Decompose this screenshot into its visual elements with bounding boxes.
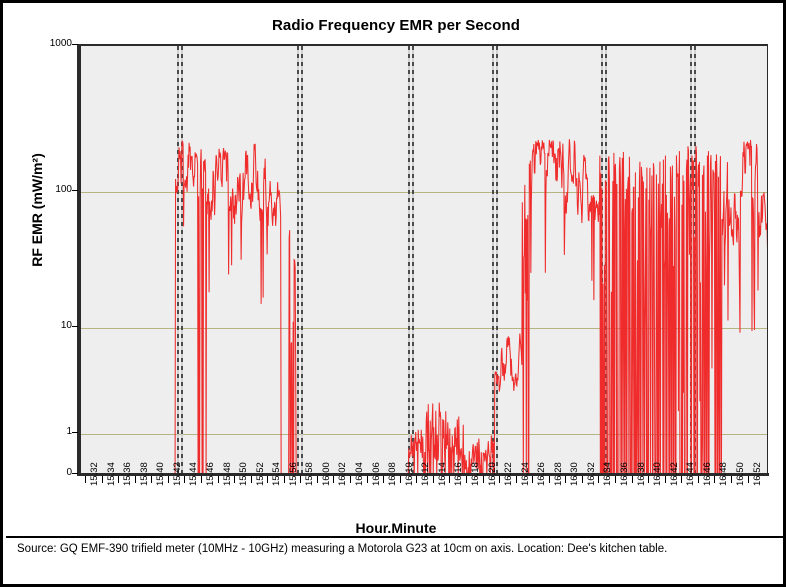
x-tick-mark-16-24 xyxy=(516,476,517,483)
x-tick-label-16-50: 16.50 xyxy=(735,462,746,486)
x-tick-label-16-44: 16.44 xyxy=(685,462,696,486)
y-tick-mark-100 xyxy=(72,190,78,191)
rf-emr-series xyxy=(81,46,767,473)
x-tick-mark-16-00 xyxy=(317,476,318,483)
x-tick-label-16-10: 16.10 xyxy=(404,462,415,486)
x-tick-label-15-50: 15.50 xyxy=(238,462,249,486)
x-tick-label-16-22: 16.22 xyxy=(503,462,514,486)
x-tick-label-16-30: 16.30 xyxy=(569,462,580,486)
x-tick-label-16-20: 16.20 xyxy=(487,462,498,486)
x-tick-label-16-46: 16.46 xyxy=(702,462,713,486)
y-axis-line xyxy=(77,44,79,475)
x-tick-label-16-14: 16.14 xyxy=(437,462,448,486)
x-tick-label-16-38: 16.38 xyxy=(636,462,647,486)
x-tick-mark-15-34 xyxy=(102,476,103,483)
x-tick-label-16-08: 16.08 xyxy=(387,462,398,486)
x-tick-mark-16-14 xyxy=(433,476,434,483)
x-tick-label-16-34: 16.34 xyxy=(602,462,613,486)
x-tick-label-16-52: 16.52 xyxy=(752,462,763,486)
y-tick-mark-1 xyxy=(72,432,78,433)
x-tick-mark-15-42 xyxy=(168,476,169,483)
x-tick-label-15-48: 15.48 xyxy=(222,462,233,486)
x-tick-mark-15-38 xyxy=(135,476,136,483)
x-tick-label-16-04: 16.04 xyxy=(354,462,365,486)
x-tick-mark-16-08 xyxy=(383,476,384,483)
x-tick-mark-15-58 xyxy=(300,476,301,483)
footnote-text: Source: GQ EMF-390 trifield meter (10MHz… xyxy=(17,542,772,557)
x-tick-mark-16-26 xyxy=(532,476,533,483)
x-tick-mark-16-16 xyxy=(449,476,450,483)
x-tick-label-16-24: 16.24 xyxy=(520,462,531,486)
x-tick-label-16-06: 16.06 xyxy=(371,462,382,486)
x-tick-mark-16-04 xyxy=(350,476,351,483)
plot-area xyxy=(79,44,768,473)
chart-card: Radio Frequency EMR per Second 100010010… xyxy=(6,6,786,535)
x-tick-label-16-26: 16.26 xyxy=(536,462,547,486)
x-tick-label-15-34: 15.34 xyxy=(106,462,117,486)
x-tick-mark-16-22 xyxy=(499,476,500,483)
x-tick-label-16-28: 16.28 xyxy=(553,462,564,486)
x-tick-label-15-40: 15.40 xyxy=(155,462,166,486)
x-tick-label-16-36: 16.36 xyxy=(619,462,630,486)
x-tick-label-15-32: 15.32 xyxy=(89,462,100,486)
x-tick-mark-16-12 xyxy=(416,476,417,483)
x-tick-label-16-48: 16.48 xyxy=(718,462,729,486)
x-tick-mark-15-52 xyxy=(251,476,252,483)
x-tick-label-16-16: 16.16 xyxy=(453,462,464,486)
x-tick-mark-16-46 xyxy=(698,476,699,483)
x-tick-mark-16-44 xyxy=(681,476,682,483)
x-tick-mark-15-36 xyxy=(118,476,119,483)
x-tick-label-16-18: 16.18 xyxy=(470,462,481,486)
x-tick-mark-16-30 xyxy=(565,476,566,483)
y-axis-label: RF EMR (mW/m²) xyxy=(29,100,45,320)
x-tick-mark-15-48 xyxy=(218,476,219,483)
x-tick-label-15-58: 15.58 xyxy=(304,462,315,486)
plot-inner xyxy=(81,46,767,473)
x-tick-mark-15-44 xyxy=(184,476,185,483)
x-tick-mark-16-10 xyxy=(400,476,401,483)
x-tick-mark-15-46 xyxy=(201,476,202,483)
y-tick-label-100: 100 xyxy=(55,184,72,195)
x-tick-label-16-42: 16.42 xyxy=(669,462,680,486)
x-tick-mark-16-18 xyxy=(466,476,467,483)
series-line xyxy=(81,139,767,473)
x-tick-label-16-40: 16.40 xyxy=(652,462,663,486)
x-tick-mark-16-02 xyxy=(333,476,334,483)
x-tick-mark-16-28 xyxy=(549,476,550,483)
x-tick-label-15-36: 15.36 xyxy=(122,462,133,486)
x-tick-mark-16-32 xyxy=(582,476,583,483)
x-tick-label-16-12: 16.12 xyxy=(420,462,431,486)
x-tick-label-16-00: 16.00 xyxy=(321,462,332,486)
x-axis-label: Hour.Minute xyxy=(6,520,786,536)
x-tick-label-15-52: 15.52 xyxy=(255,462,266,486)
x-tick-label-16-32: 16.32 xyxy=(586,462,597,486)
y-tick-mark-10 xyxy=(72,326,78,327)
x-tick-label-15-54: 15.54 xyxy=(271,462,282,486)
x-tick-label-15-56: 15.56 xyxy=(288,462,299,486)
y-tick-label-1000: 1000 xyxy=(50,38,72,49)
x-tick-label-15-38: 15.38 xyxy=(139,462,150,486)
x-tick-mark-15-50 xyxy=(234,476,235,483)
y-tick-label-10: 10 xyxy=(61,320,72,331)
x-tick-mark-16-40 xyxy=(648,476,649,483)
x-tick-mark-16-38 xyxy=(632,476,633,483)
footnote-separator xyxy=(6,536,786,538)
x-tick-mark-15-56 xyxy=(284,476,285,483)
x-tick-mark-15-32 xyxy=(85,476,86,483)
y-tick-mark-1000 xyxy=(72,44,78,45)
x-tick-mark-16-06 xyxy=(367,476,368,483)
x-tick-mark-16-48 xyxy=(714,476,715,483)
x-tick-label-15-44: 15.44 xyxy=(188,462,199,486)
x-tick-mark-16-36 xyxy=(615,476,616,483)
chart-title: Radio Frequency EMR per Second xyxy=(6,17,786,34)
x-tick-mark-16-50 xyxy=(731,476,732,483)
chart-window: Radio Frequency EMR per Second 100010010… xyxy=(0,0,786,587)
x-tick-mark-15-54 xyxy=(267,476,268,483)
x-tick-label-15-46: 15.46 xyxy=(205,462,216,486)
x-tick-mark-16-42 xyxy=(665,476,666,483)
x-tick-mark-15-40 xyxy=(151,476,152,483)
y-tick-mark-0 xyxy=(72,473,78,474)
x-tick-label-16-02: 16.02 xyxy=(337,462,348,486)
x-tick-mark-16-34 xyxy=(598,476,599,483)
x-tick-mark-16-52 xyxy=(748,476,749,483)
x-tick-label-15-42: 15.42 xyxy=(172,462,183,486)
x-tick-mark-16-20 xyxy=(483,476,484,483)
